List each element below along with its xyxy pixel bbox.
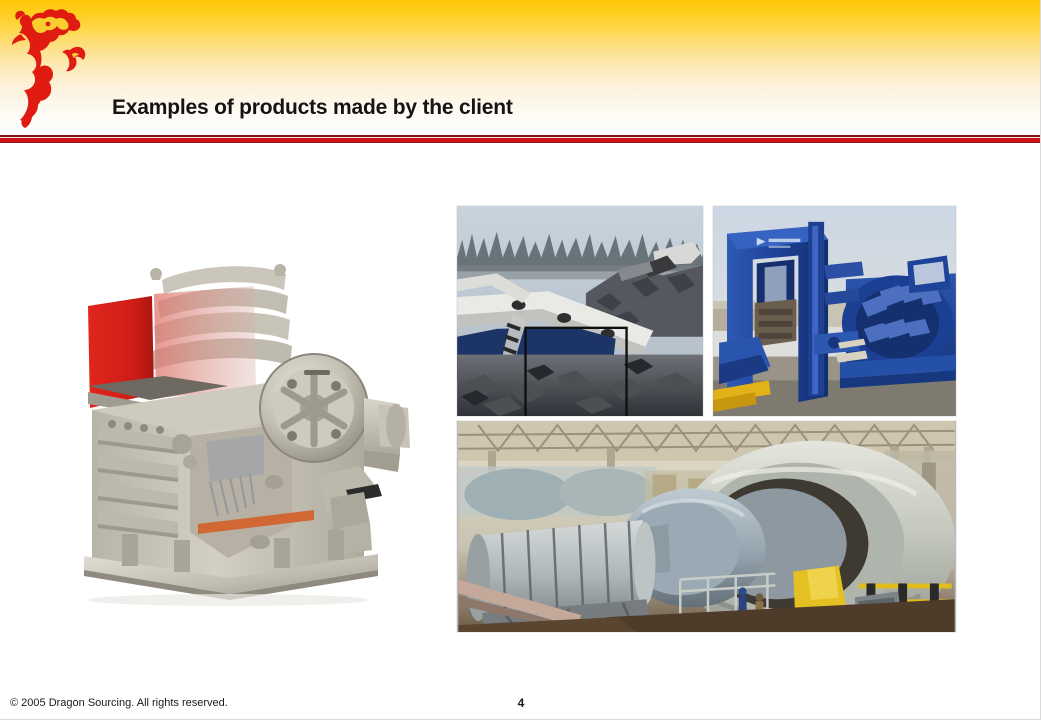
- page-number: 4: [512, 696, 530, 710]
- presentation-slide: Examples of products made by the client: [0, 0, 1041, 720]
- jaw-crusher-product-photo: [78, 258, 418, 610]
- header-divider-rule: [0, 135, 1041, 143]
- mobile-crushing-plant-photo: [456, 205, 704, 417]
- page-title: Examples of products made by the client: [112, 96, 513, 120]
- divider-dark-bottom: [0, 142, 1041, 143]
- ball-mill-plant-photo: [456, 420, 957, 633]
- blue-press-machine-photo: [712, 205, 957, 417]
- footer-copyright: © 2005 Dragon Sourcing. All rights reser…: [10, 697, 228, 709]
- product-photo-collage: [456, 205, 957, 633]
- dragon-logo-icon: [8, 4, 98, 130]
